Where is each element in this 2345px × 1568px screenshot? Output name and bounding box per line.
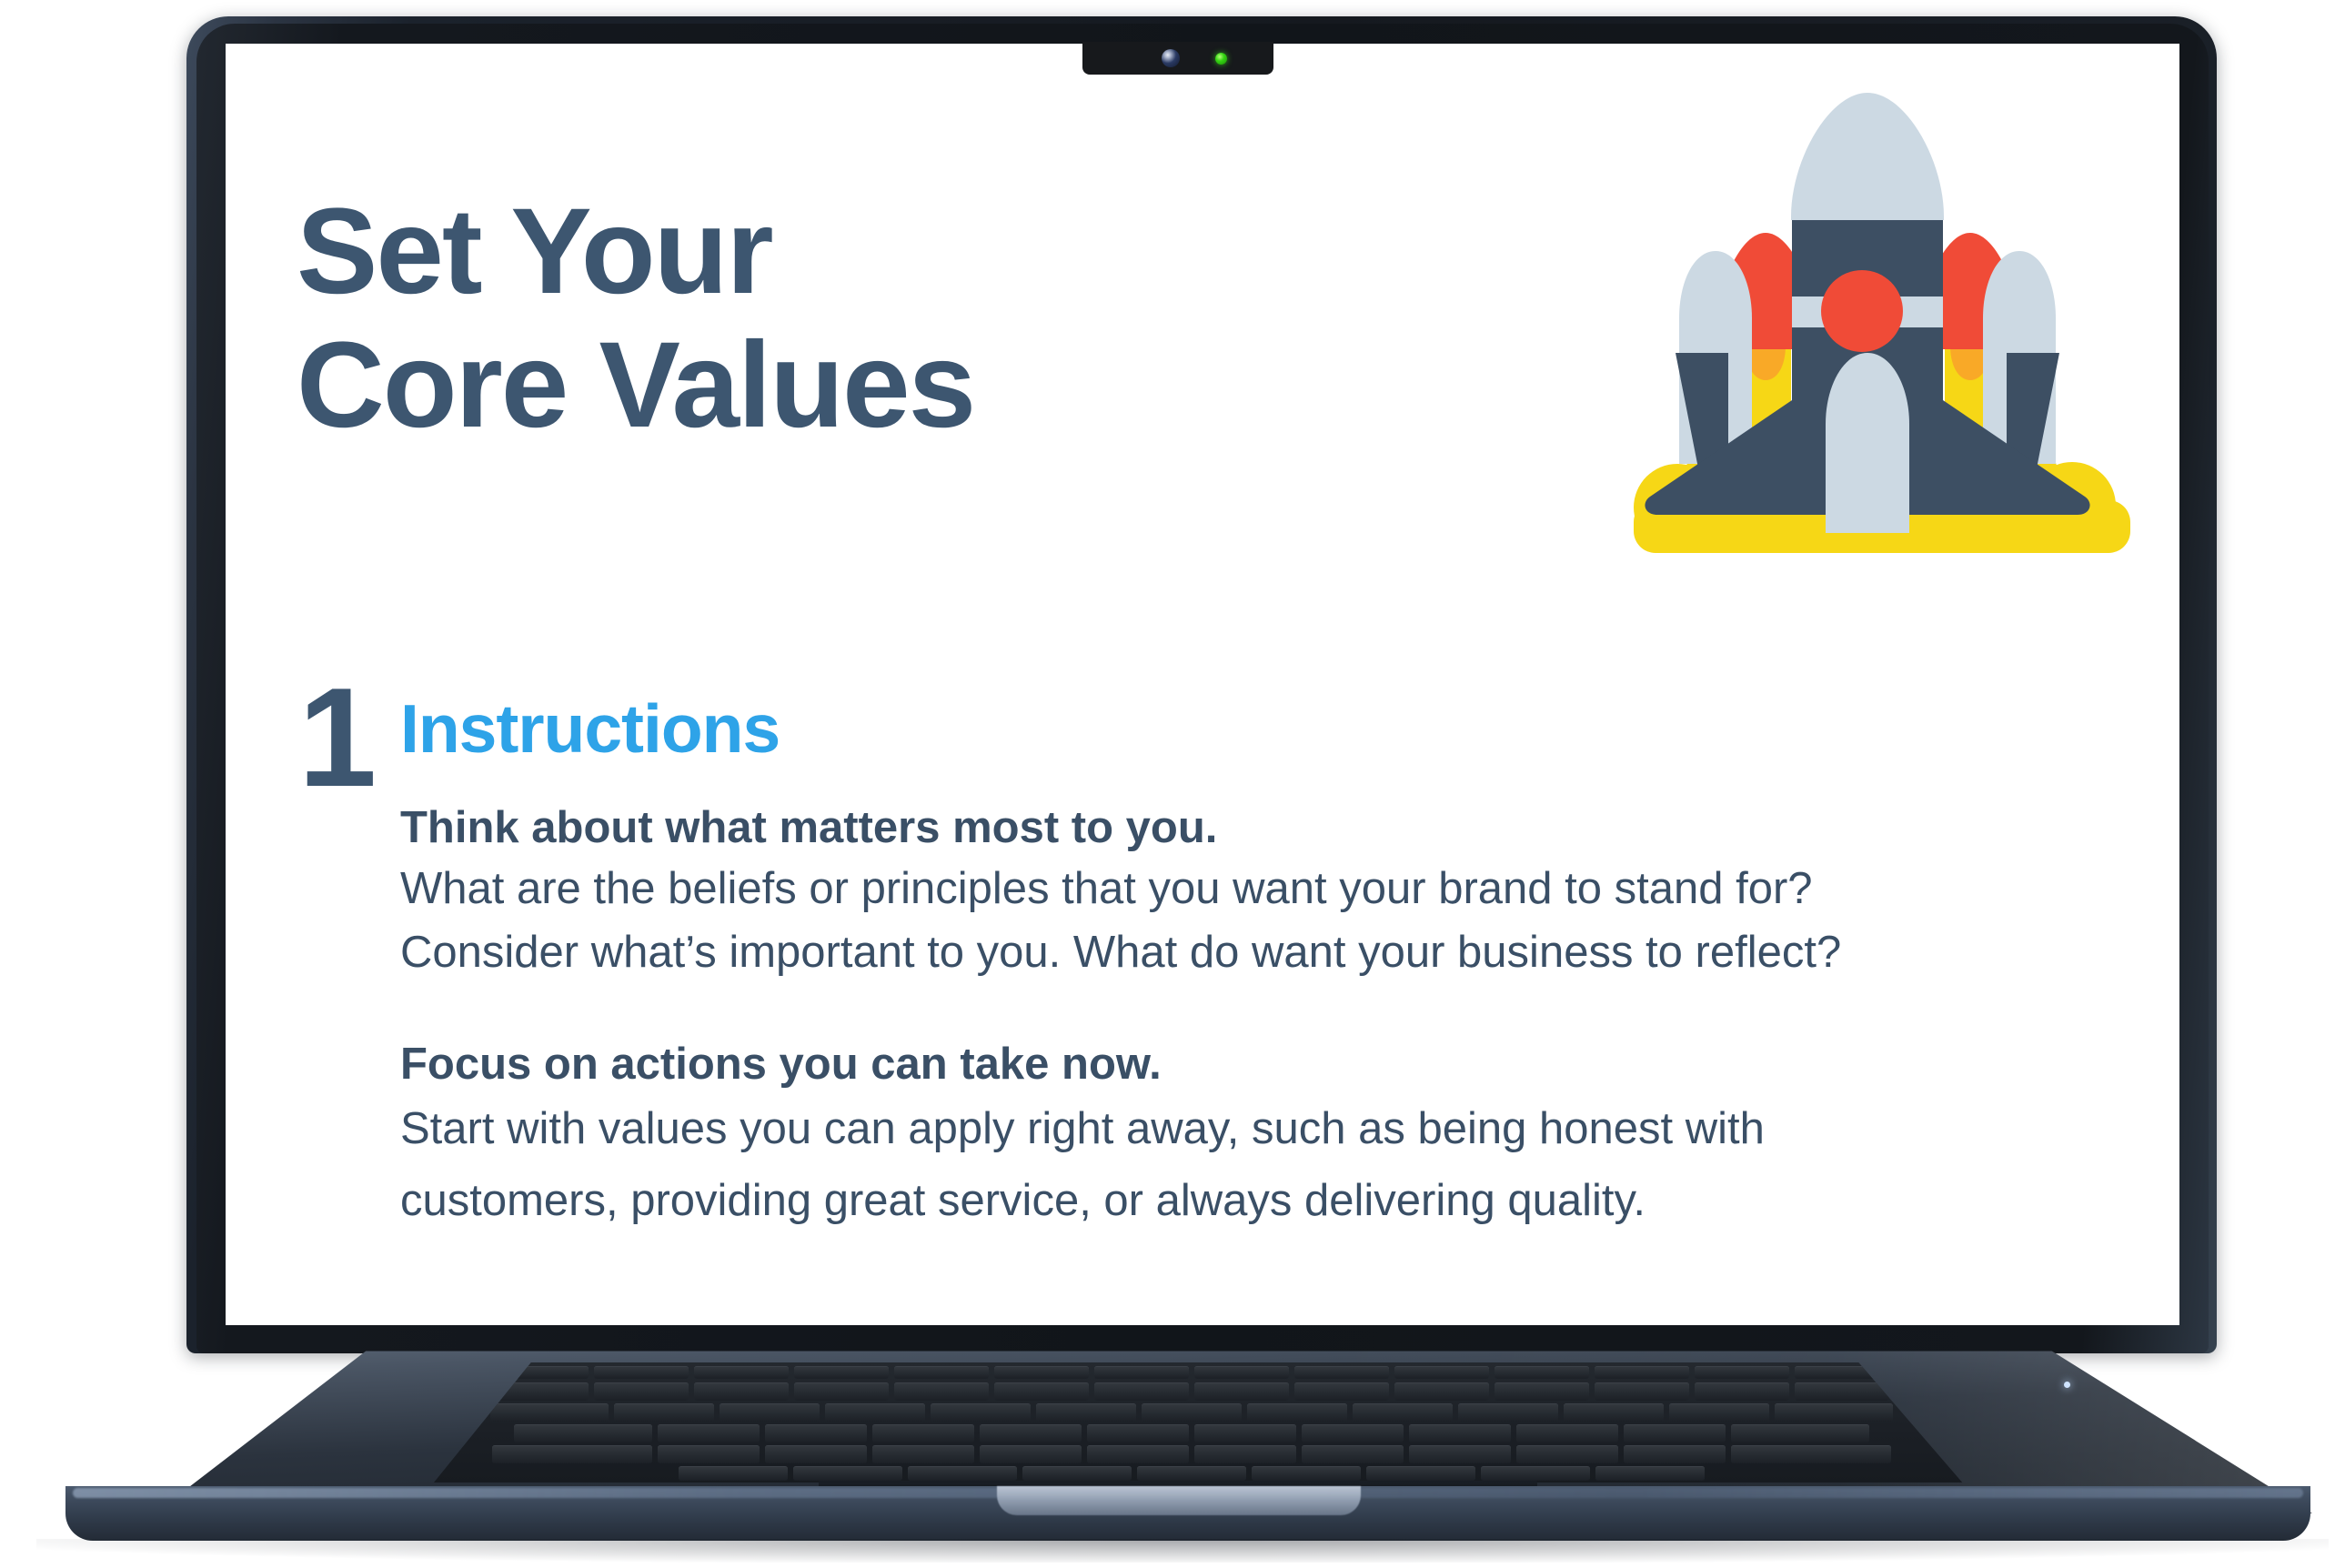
keyboard-key[interactable]: [1302, 1424, 1404, 1442]
camera-indicator-led-icon: [1215, 53, 1227, 65]
keyboard-key[interactable]: [872, 1424, 974, 1442]
screenshot-stage: Set Your Core Values 1 Instructions Thin…: [0, 0, 2345, 1568]
keyboard-key[interactable]: [994, 1366, 1089, 1379]
rocket-porthole-icon: [1821, 270, 1903, 352]
rocket-nose-cone-icon: [1791, 93, 1944, 220]
keyboard-key[interactable]: [1394, 1366, 1489, 1379]
rocket-launch-illustration: [1599, 80, 2163, 562]
keyboard-key[interactable]: [1731, 1424, 1869, 1442]
keyboard-key[interactable]: [1595, 1366, 1689, 1379]
keyboard-key[interactable]: [1394, 1382, 1489, 1401]
keyboard-key[interactable]: [1194, 1382, 1289, 1401]
keyboard-key[interactable]: [931, 1403, 1031, 1422]
keyboard-row: [382, 1382, 2001, 1401]
instructions-paragraph-1: Think about what matters most to you. Wh…: [400, 799, 2001, 982]
keyboard-key[interactable]: [1409, 1424, 1511, 1442]
keyboard-key[interactable]: [658, 1424, 760, 1442]
keyboard-key[interactable]: [1194, 1366, 1289, 1379]
laptop-lid-opening-notch: [997, 1486, 1361, 1515]
keyboard-key[interactable]: [1695, 1382, 1789, 1401]
keyboard-row: [382, 1366, 2001, 1379]
camera-icon: [1162, 49, 1180, 67]
keyboard-key[interactable]: [794, 1382, 889, 1401]
paragraph-2-line-1: Start with values you can apply right aw…: [400, 1096, 2001, 1163]
keyboard-key[interactable]: [1294, 1382, 1389, 1401]
keyboard-key[interactable]: [794, 1366, 889, 1379]
keyboard-key[interactable]: [1094, 1382, 1189, 1401]
keyboard-key[interactable]: [1516, 1424, 1618, 1442]
instructions-body: Think about what matters most to you. Wh…: [400, 799, 2001, 1241]
keyboard-key[interactable]: [765, 1424, 867, 1442]
laptop-screen[interactable]: Set Your Core Values 1 Instructions Thin…: [226, 44, 2179, 1325]
keyboard-key[interactable]: [1194, 1424, 1296, 1442]
keyboard-key[interactable]: [614, 1403, 714, 1422]
keyboard-key[interactable]: [1624, 1445, 1726, 1463]
keyboard-key[interactable]: [765, 1445, 867, 1463]
keyboard-key[interactable]: [1624, 1424, 1726, 1442]
keyboard-key[interactable]: [894, 1366, 989, 1379]
keyboard-key[interactable]: [1022, 1466, 1132, 1481]
keyboard-key[interactable]: [679, 1466, 788, 1481]
keyboard-key[interactable]: [594, 1366, 689, 1379]
keyboard-key[interactable]: [1294, 1366, 1389, 1379]
keyboard-key[interactable]: [514, 1424, 652, 1442]
keyboard-key[interactable]: [894, 1382, 989, 1401]
paragraph-1-line-1: What are the beliefs or principles that …: [400, 859, 2001, 919]
step-number: 1: [298, 667, 373, 808]
keyboard-key[interactable]: [1495, 1366, 1589, 1379]
power-indicator-led-icon: [2064, 1382, 2070, 1388]
keyboard-row: [382, 1403, 2001, 1422]
keyboard-key[interactable]: [1094, 1366, 1189, 1379]
keyboard-key[interactable]: [490, 1403, 609, 1422]
keyboard-key[interactable]: [1458, 1403, 1558, 1422]
keyboard-key[interactable]: [1353, 1403, 1453, 1422]
keyboard-key[interactable]: [1516, 1445, 1618, 1463]
keyboard-key[interactable]: [694, 1382, 789, 1401]
rocket-center-fin-icon: [1826, 353, 1909, 533]
laptop-keyboard[interactable]: [382, 1362, 2001, 1483]
paragraph-1-line-2: Consider what’s important to you. What d…: [400, 923, 2001, 982]
laptop-device: Set Your Core Values 1 Instructions Thin…: [0, 0, 2345, 1568]
paragraph-1-lead: Think about what matters most to you.: [400, 799, 2001, 858]
keyboard-key[interactable]: [980, 1424, 1082, 1442]
keyboard-key[interactable]: [1595, 1466, 1705, 1481]
keyboard-key[interactable]: [1795, 1382, 1889, 1401]
keyboard-key[interactable]: [793, 1466, 902, 1481]
keyboard-row: [382, 1424, 2001, 1442]
keyboard-key[interactable]: [1564, 1403, 1664, 1422]
keyboard-key[interactable]: [1194, 1445, 1296, 1463]
keyboard-key[interactable]: [994, 1382, 1089, 1401]
keyboard-key[interactable]: [1481, 1466, 1590, 1481]
keyboard-key[interactable]: [1087, 1424, 1189, 1442]
page-title-line-1: Set Your: [297, 185, 1479, 318]
keyboard-key[interactable]: [1137, 1466, 1246, 1481]
keyboard-key[interactable]: [1495, 1382, 1589, 1401]
keyboard-key[interactable]: [1695, 1366, 1789, 1379]
paragraph-2-line-2: customers, providing great service, or a…: [400, 1168, 2001, 1235]
keyboard-key[interactable]: [594, 1382, 689, 1401]
keyboard-key[interactable]: [1087, 1445, 1189, 1463]
keyboard-key[interactable]: [1366, 1466, 1475, 1481]
keyboard-key[interactable]: [1247, 1403, 1347, 1422]
keyboard-key[interactable]: [658, 1445, 760, 1463]
keyboard-key[interactable]: [908, 1466, 1017, 1481]
keyboard-key[interactable]: [720, 1403, 820, 1422]
keyboard-key[interactable]: [694, 1366, 789, 1379]
keyboard-key[interactable]: [1669, 1403, 1769, 1422]
keyboard-key[interactable]: [492, 1445, 652, 1463]
keyboard-key[interactable]: [1142, 1403, 1242, 1422]
laptop-drop-shadow: [36, 1539, 2329, 1563]
keyboard-key[interactable]: [825, 1403, 925, 1422]
page-title: Set Your Core Values: [297, 185, 1479, 453]
instructions-heading: Instructions: [400, 689, 780, 768]
keyboard-key[interactable]: [1595, 1382, 1689, 1401]
presentation-slide: Set Your Core Values 1 Instructions Thin…: [226, 44, 2179, 1325]
keyboard-key[interactable]: [872, 1445, 974, 1463]
keyboard-key[interactable]: [1252, 1466, 1361, 1481]
keyboard-key[interactable]: [1302, 1445, 1404, 1463]
page-title-line-2: Core Values: [297, 318, 1479, 452]
paragraph-2-lead: Focus on actions you can take now.: [400, 1035, 2001, 1094]
keyboard-key[interactable]: [980, 1445, 1082, 1463]
keyboard-row: [382, 1445, 2001, 1463]
keyboard-key[interactable]: [1775, 1403, 1893, 1422]
keyboard-row: [382, 1466, 2001, 1481]
keyboard-key[interactable]: [1409, 1445, 1511, 1463]
instructions-paragraph-2: Focus on actions you can take now. Start…: [400, 1035, 2001, 1235]
keyboard-key[interactable]: [1731, 1445, 1891, 1463]
keyboard-key[interactable]: [1036, 1403, 1136, 1422]
